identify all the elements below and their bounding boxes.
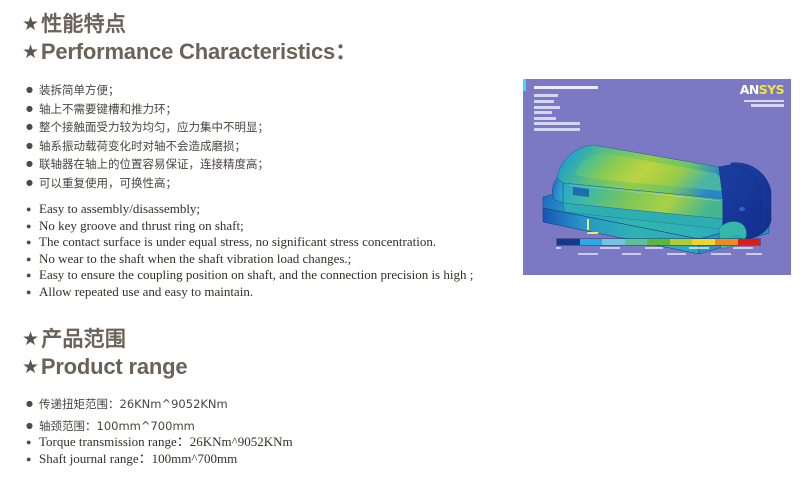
heading-product-range-cn-text: 产品范围	[41, 328, 126, 351]
list-item-label: 轴颈范围：100mm^700mm	[39, 419, 195, 433]
heading-product-range-en-text: Product range	[41, 354, 188, 379]
legend-swatch-1	[580, 239, 603, 245]
list-item-label: The contact surface is under equal stres…	[39, 234, 436, 249]
heading-performance-en: ★Performance Characteristics：	[22, 38, 357, 66]
model-left-cap	[552, 178, 563, 203]
list-item: ●轴上不需要键槽和推力环；	[26, 100, 269, 119]
list-item-label: No key groove and thrust ring on shaft;	[39, 218, 244, 233]
legend-label	[556, 247, 561, 249]
legend-swatch-4	[647, 239, 670, 245]
bullet-dot-icon: ●	[26, 81, 33, 100]
legend-swatch-7	[715, 239, 738, 245]
model-hub-bolt	[739, 207, 745, 211]
bullet-dot-icon: ●	[26, 118, 33, 137]
list-item: ●可以重复使用，可换性高；	[26, 174, 269, 193]
product-range-bullets-cn: ●传递扭矩范围：26KNm^9052KNm ●轴颈范围：100mm^700mm	[26, 393, 228, 437]
list-item-label: Easy to ensure the coupling position on …	[39, 267, 473, 282]
legend-swatch-2	[602, 239, 625, 245]
performance-bullets-en: ●Easy to assembly/disassembly; ●No key g…	[26, 201, 473, 300]
bullet-dot-icon: ●	[26, 434, 31, 451]
list-item: ●轴系振动载荷变化时对轴不会造成磨损；	[26, 137, 269, 156]
list-item-label: 轴上不需要键槽和推力环；	[39, 102, 177, 116]
heading-performance-cn: ★性能特点	[22, 12, 357, 38]
list-item: ●传递扭矩范围：26KNm^9052KNm	[26, 393, 228, 415]
list-item-label: Easy to assembly/disassembly;	[39, 201, 200, 216]
heading-product-range-cn: ★产品范围	[22, 327, 187, 353]
contour-legend	[556, 238, 761, 261]
product-range-bullets-en: ●Torque transmission range：26KNm^9052KNm…	[26, 434, 293, 467]
legend-color-bar	[556, 238, 761, 246]
legend-swatch-8	[738, 239, 761, 245]
fea-viewport: ANSYS	[523, 79, 791, 275]
page-root: ★性能特点 ★Performance Characteristics： ●装拆简…	[0, 0, 811, 477]
list-item-label: 装拆简单方便；	[39, 83, 120, 97]
legend-label	[645, 247, 663, 249]
bullet-dot-icon: ●	[26, 451, 31, 468]
heading-performance-en-text: Performance Characteristics：	[41, 39, 357, 64]
bullet-dot-icon: ●	[26, 137, 33, 156]
section-heading-performance: ★性能特点 ★Performance Characteristics：	[22, 12, 357, 66]
star-icon: ★	[22, 358, 39, 377]
list-item: ●整个接触面受力较为均匀，应力集中不明显；	[26, 118, 269, 137]
list-item: ●Easy to ensure the coupling position on…	[26, 267, 473, 284]
legend-label	[600, 247, 620, 249]
list-item-label: 传递扭矩范围：26KNm^9052KNm	[39, 397, 228, 411]
legend-label	[746, 253, 762, 255]
star-icon: ★	[22, 330, 39, 349]
list-item: ●No key groove and thrust ring on shaft;	[26, 218, 473, 235]
list-item: ●The contact surface is under equal stre…	[26, 234, 473, 251]
legend-label	[667, 253, 686, 255]
list-item: ●No wear to the shaft when the shaft vib…	[26, 251, 473, 268]
legend-label	[711, 253, 731, 255]
list-item: ●Easy to assembly/disassembly;	[26, 201, 473, 218]
legend-swatch-6	[692, 239, 715, 245]
section-heading-product-range: ★产品范围 ★Product range	[22, 327, 187, 381]
bullet-dot-icon: ●	[26, 201, 31, 218]
list-item-label: No wear to the shaft when the shaft vibr…	[39, 251, 351, 266]
list-item: ●Allow repeated use and easy to maintain…	[26, 284, 473, 301]
list-item-label: 联轴器在轴上的位置容易保证，连接精度高；	[39, 157, 269, 171]
legend-label	[689, 247, 709, 249]
bullet-dot-icon: ●	[26, 251, 31, 268]
list-item-label: 轴系振动载荷变化时对轴不会造成磨损；	[39, 139, 246, 153]
bullet-dot-icon: ●	[26, 284, 31, 301]
list-item: ●装拆简单方便；	[26, 81, 269, 100]
legend-label	[622, 253, 641, 255]
legend-swatch-3	[625, 239, 648, 245]
bullet-dot-icon: ●	[26, 155, 33, 174]
legend-swatch-5	[670, 239, 693, 245]
bullet-dot-icon: ●	[26, 234, 31, 251]
list-item: ●联轴器在轴上的位置容易保证，连接精度高；	[26, 155, 269, 174]
bullet-dot-icon: ●	[26, 174, 33, 193]
list-item-label: Allow repeated use and easy to maintain.	[39, 284, 253, 299]
star-icon: ★	[22, 43, 39, 62]
list-item: ●Shaft journal range：100mm^700mm	[26, 451, 293, 468]
bullet-dot-icon: ●	[26, 393, 33, 415]
performance-bullets-cn: ●装拆简单方便； ●轴上不需要键槽和推力环； ●整个接触面受力较为均匀，应力集中…	[26, 81, 269, 192]
legend-label	[733, 247, 753, 249]
heading-product-range-en: ★Product range	[22, 353, 187, 381]
bullet-dot-icon: ●	[26, 100, 33, 119]
legend-swatch-0	[557, 239, 580, 245]
list-item-label: 可以重复使用，可换性高；	[39, 176, 177, 190]
heading-performance-cn-text: 性能特点	[41, 13, 126, 36]
fea-analysis-figure: ANSYS	[513, 77, 796, 278]
bullet-dot-icon: ●	[26, 267, 31, 284]
list-item-label: Shaft journal range：100mm^700mm	[39, 451, 237, 466]
list-item-label: 整个接触面受力较为均匀，应力集中不明显；	[39, 120, 269, 134]
star-icon: ★	[22, 15, 39, 34]
list-item-label: Torque transmission range：26KNm^9052KNm	[39, 434, 293, 449]
bullet-dot-icon: ●	[26, 218, 31, 235]
legend-label	[578, 253, 598, 255]
list-item: ●Torque transmission range：26KNm^9052KNm	[26, 434, 293, 451]
legend-tick-labels	[556, 247, 761, 261]
coordinate-triad-icon	[587, 219, 601, 233]
